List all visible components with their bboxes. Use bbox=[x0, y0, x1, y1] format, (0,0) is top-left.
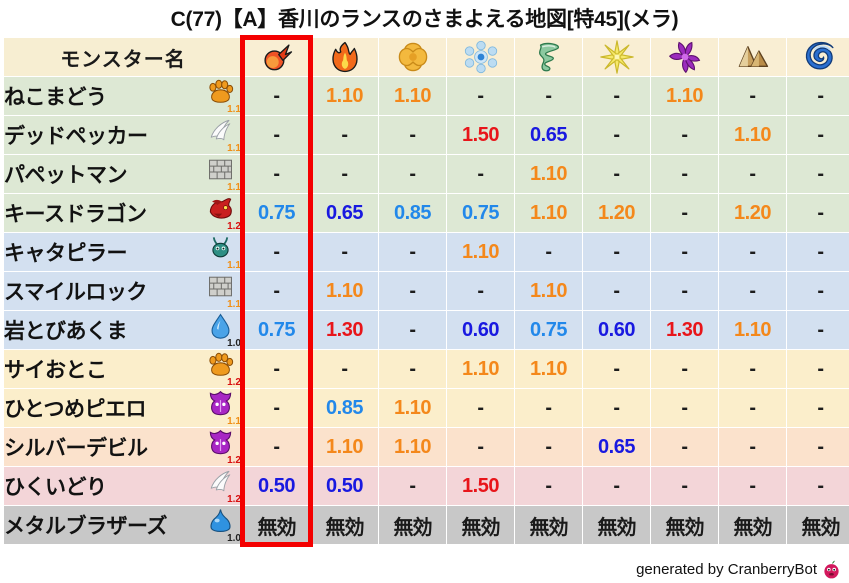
affinity-value: 無効 bbox=[462, 517, 500, 539]
affinity-cell: - bbox=[719, 233, 786, 271]
affinity-value: - bbox=[545, 436, 551, 458]
affinity-value: - bbox=[681, 280, 687, 302]
column-header-monster-name: モンスター名 bbox=[4, 38, 242, 76]
affinity-value: 1.10 bbox=[530, 163, 567, 185]
affinity-value: - bbox=[613, 397, 619, 419]
affinity-cell: 1.10 bbox=[515, 155, 582, 193]
monster-name-cell[interactable]: サイおとこ1.2 bbox=[4, 350, 242, 388]
affinity-cell: 0.60 bbox=[447, 311, 514, 349]
affinity-value: 無効 bbox=[802, 517, 840, 539]
affinity-value: - bbox=[613, 358, 619, 380]
affinity-value: 1.10 bbox=[326, 280, 363, 302]
wing-icon bbox=[207, 468, 234, 495]
affinity-value: - bbox=[273, 241, 279, 263]
affinity-cell: - bbox=[447, 389, 514, 427]
affinity-value: - bbox=[817, 397, 823, 419]
affinity-cell: 無効 bbox=[379, 506, 446, 544]
affinity-value: - bbox=[681, 397, 687, 419]
affinity-value: - bbox=[409, 358, 415, 380]
affinity-value: 1.10 bbox=[326, 85, 363, 107]
affinity-cell: - bbox=[515, 428, 582, 466]
affinity-value: 1.10 bbox=[734, 319, 771, 341]
column-header-mountain[interactable] bbox=[719, 38, 786, 76]
affinity-cell: 無効 bbox=[719, 506, 786, 544]
monster-version-label: 1.1 bbox=[227, 261, 241, 271]
wave-icon bbox=[804, 40, 838, 74]
affinity-cell: - bbox=[719, 389, 786, 427]
affinity-cell: - bbox=[787, 272, 849, 310]
affinity-value: - bbox=[409, 475, 415, 497]
affinity-cell: - bbox=[583, 116, 650, 154]
monster-name-cell[interactable]: パペットマン1.1 bbox=[4, 155, 242, 193]
affinity-cell: - bbox=[311, 116, 378, 154]
affinity-cell: 1.50 bbox=[447, 116, 514, 154]
affinity-cell: - bbox=[787, 116, 849, 154]
affinity-cell: 無効 bbox=[515, 506, 582, 544]
affinity-cell: - bbox=[515, 467, 582, 505]
affinity-value: - bbox=[273, 358, 279, 380]
cranberry-icon bbox=[822, 560, 841, 579]
affinity-cell: 0.50 bbox=[243, 467, 310, 505]
affinity-table-container: モンスター名 ねこまどう1.1-1.101.10---1.10--デッドペッカー… bbox=[0, 37, 849, 545]
affinity-cell: - bbox=[379, 233, 446, 271]
affinity-cell: 0.75 bbox=[243, 194, 310, 232]
column-header-flame[interactable] bbox=[311, 38, 378, 76]
affinity-cell: - bbox=[447, 155, 514, 193]
paw-icon bbox=[207, 351, 234, 378]
monster-name-cell[interactable]: ひとつめピエロ1.1 bbox=[4, 389, 242, 427]
affinity-cell: - bbox=[651, 272, 718, 310]
affinity-value: - bbox=[409, 241, 415, 263]
affinity-cell: 1.10 bbox=[311, 272, 378, 310]
affinity-cell: - bbox=[243, 428, 310, 466]
affinity-value: - bbox=[613, 475, 619, 497]
affinity-value: 1.10 bbox=[394, 397, 431, 419]
affinity-value: 0.75 bbox=[258, 319, 295, 341]
affinity-cell: 無効 bbox=[311, 506, 378, 544]
affinity-cell: - bbox=[787, 233, 849, 271]
affinity-value: - bbox=[749, 241, 755, 263]
affinity-cell: 1.30 bbox=[311, 311, 378, 349]
affinity-value: - bbox=[273, 436, 279, 458]
affinity-cell: 1.10 bbox=[379, 389, 446, 427]
affinity-value: 無効 bbox=[258, 517, 296, 539]
waterdrop-icon bbox=[207, 312, 234, 339]
affinity-value: - bbox=[477, 397, 483, 419]
affinity-value: - bbox=[613, 163, 619, 185]
monster-version-label: 1.1 bbox=[227, 417, 241, 427]
affinity-value: - bbox=[341, 241, 347, 263]
affinity-cell: - bbox=[379, 272, 446, 310]
affinity-cell: - bbox=[447, 272, 514, 310]
affinity-cell: 無効 bbox=[243, 506, 310, 544]
monster-version-label: 1.1 bbox=[227, 300, 241, 310]
affinity-value: 無効 bbox=[394, 517, 432, 539]
monster-version-label: 1.2 bbox=[227, 222, 241, 232]
affinity-cell: - bbox=[243, 116, 310, 154]
brick-icon bbox=[207, 273, 234, 300]
monster-name-cell[interactable]: スマイルロック1.1 bbox=[4, 272, 242, 310]
affinity-value: - bbox=[477, 85, 483, 107]
affinity-cell: - bbox=[583, 272, 650, 310]
affinity-cell: - bbox=[583, 467, 650, 505]
monster-version-label: 1.2 bbox=[227, 378, 241, 388]
affinity-value: - bbox=[817, 358, 823, 380]
affinity-value: - bbox=[545, 397, 551, 419]
affinity-cell: 1.30 bbox=[651, 311, 718, 349]
affinity-cell: 1.50 bbox=[447, 467, 514, 505]
monster-name-label: 岩とびあくま bbox=[4, 315, 127, 345]
star-icon bbox=[600, 40, 634, 74]
affinity-value: 0.65 bbox=[598, 436, 635, 458]
affinity-cell: - bbox=[787, 350, 849, 388]
affinity-value: 0.60 bbox=[462, 319, 499, 341]
affinity-value: - bbox=[341, 124, 347, 146]
affinity-value: - bbox=[749, 475, 755, 497]
affinity-cell: - bbox=[515, 389, 582, 427]
table-row: デッドペッカー1.1---1.500.65--1.10- bbox=[4, 116, 849, 154]
affinity-value: 0.65 bbox=[530, 124, 567, 146]
affinity-cell: 1.10 bbox=[515, 194, 582, 232]
affinity-cell: 0.75 bbox=[447, 194, 514, 232]
monster-version-label: 1.0 bbox=[227, 534, 241, 544]
affinity-value: - bbox=[817, 202, 823, 224]
affinity-cell: - bbox=[243, 272, 310, 310]
affinity-value: 0.60 bbox=[598, 319, 635, 341]
column-header-snowflake[interactable] bbox=[447, 38, 514, 76]
monster-name-label: キャタピラー bbox=[4, 237, 127, 267]
affinity-value: 1.30 bbox=[326, 319, 363, 341]
affinity-cell: - bbox=[447, 428, 514, 466]
affinity-cell: - bbox=[719, 272, 786, 310]
affinity-cell: - bbox=[583, 155, 650, 193]
affinity-value: 0.85 bbox=[394, 202, 431, 224]
affinity-value: 0.85 bbox=[326, 397, 363, 419]
table-row: パペットマン1.1----1.10---- bbox=[4, 155, 849, 193]
monster-name-label: スマイルロック bbox=[4, 276, 147, 306]
monster-name-cell[interactable]: メタルブラザーズ1.0 bbox=[4, 506, 242, 544]
affinity-cell: - bbox=[651, 194, 718, 232]
flame-icon bbox=[328, 40, 362, 74]
affinity-value: - bbox=[749, 397, 755, 419]
affinity-value: - bbox=[409, 319, 415, 341]
affinity-cell: - bbox=[719, 350, 786, 388]
affinity-cell: - bbox=[787, 311, 849, 349]
paw-icon bbox=[207, 78, 234, 105]
affinity-cell: - bbox=[311, 155, 378, 193]
affinity-cell: - bbox=[651, 428, 718, 466]
affinity-cell: - bbox=[787, 389, 849, 427]
column-header-star[interactable] bbox=[583, 38, 650, 76]
affinity-value: - bbox=[613, 241, 619, 263]
affinity-value: 無効 bbox=[666, 517, 704, 539]
affinity-value: - bbox=[681, 436, 687, 458]
affinity-value: - bbox=[477, 280, 483, 302]
affinity-cell: - bbox=[447, 77, 514, 115]
affinity-cell: - bbox=[379, 155, 446, 193]
snowflake-icon bbox=[464, 40, 498, 74]
affinity-cell: - bbox=[583, 350, 650, 388]
affinity-cell: - bbox=[719, 155, 786, 193]
affinity-cell: 無効 bbox=[787, 506, 849, 544]
affinity-value: - bbox=[817, 475, 823, 497]
affinity-value: - bbox=[273, 85, 279, 107]
affinity-cell: - bbox=[583, 389, 650, 427]
affinity-cell: 1.10 bbox=[447, 233, 514, 271]
affinity-value: - bbox=[409, 124, 415, 146]
table-row: キースドラゴン1.20.750.650.850.751.101.20-1.20- bbox=[4, 194, 849, 232]
affinity-value: 1.10 bbox=[394, 436, 431, 458]
affinity-value: - bbox=[749, 280, 755, 302]
affinity-cell: 1.10 bbox=[379, 428, 446, 466]
monster-name-cell[interactable]: 岩とびあくま1.0 bbox=[4, 311, 242, 349]
affinity-value: - bbox=[749, 85, 755, 107]
affinity-value: 1.10 bbox=[462, 241, 499, 263]
affinity-cell: 0.65 bbox=[311, 194, 378, 232]
affinity-value: - bbox=[749, 163, 755, 185]
affinity-value: 0.75 bbox=[258, 202, 295, 224]
monster-name-label: ひくいどり bbox=[4, 471, 107, 501]
monster-name-label: キースドラゴン bbox=[4, 198, 146, 228]
affinity-value: 1.20 bbox=[734, 202, 771, 224]
affinity-cell: - bbox=[379, 350, 446, 388]
affinity-value: - bbox=[273, 163, 279, 185]
monster-name-cell[interactable]: ひくいどり1.2 bbox=[4, 467, 242, 505]
affinity-cell: - bbox=[243, 389, 310, 427]
table-row: ひくいどり1.20.500.50-1.50----- bbox=[4, 467, 849, 505]
affinity-cell: 0.50 bbox=[311, 467, 378, 505]
affinity-value: 1.10 bbox=[530, 358, 567, 380]
affinity-value: 1.10 bbox=[530, 202, 567, 224]
affinity-cell: - bbox=[787, 194, 849, 232]
affinity-cell: - bbox=[243, 233, 310, 271]
table-row: メタルブラザーズ1.0無効無効無効無効無効無効無効無効無効 bbox=[4, 506, 849, 544]
monster-name-cell[interactable]: シルバーデビル1.2 bbox=[4, 428, 242, 466]
affinity-value: - bbox=[817, 241, 823, 263]
affinity-cell: - bbox=[719, 467, 786, 505]
affinity-value: 1.10 bbox=[734, 124, 771, 146]
affinity-cell: - bbox=[379, 311, 446, 349]
column-header-tornado[interactable] bbox=[515, 38, 582, 76]
affinity-cell: 0.60 bbox=[583, 311, 650, 349]
affinity-value: 0.50 bbox=[326, 475, 363, 497]
column-header-wave[interactable] bbox=[787, 38, 849, 76]
affinity-value: 1.10 bbox=[462, 358, 499, 380]
affinity-value: 無効 bbox=[530, 517, 568, 539]
affinity-value: - bbox=[817, 319, 823, 341]
affinity-cell: 1.10 bbox=[719, 116, 786, 154]
monster-name-cell[interactable]: キャタピラー1.1 bbox=[4, 233, 242, 271]
affinity-cell: - bbox=[651, 467, 718, 505]
brick-icon bbox=[207, 156, 234, 183]
affinity-cell: 無効 bbox=[583, 506, 650, 544]
monster-name-cell[interactable]: ねこまどう1.1 bbox=[4, 77, 242, 115]
monster-name-label: サイおとこ bbox=[4, 354, 107, 384]
affinity-cell: - bbox=[379, 116, 446, 154]
affinity-value: - bbox=[749, 436, 755, 458]
affinity-value: - bbox=[681, 241, 687, 263]
table-row: 岩とびあくま1.00.751.30-0.600.750.601.301.10- bbox=[4, 311, 849, 349]
tornado-icon bbox=[532, 40, 566, 74]
monster-name-cell[interactable]: キースドラゴン1.2 bbox=[4, 194, 242, 232]
affinity-cell: 0.65 bbox=[583, 428, 650, 466]
affinity-value: - bbox=[613, 280, 619, 302]
monster-version-label: 1.1 bbox=[227, 105, 241, 115]
affinity-value: - bbox=[545, 475, 551, 497]
affinity-value: - bbox=[409, 280, 415, 302]
table-row: サイおとこ1.2---1.101.10---- bbox=[4, 350, 849, 388]
affinity-value: - bbox=[409, 163, 415, 185]
affinity-value: - bbox=[749, 358, 755, 380]
affinity-cell: - bbox=[311, 233, 378, 271]
dragon-icon bbox=[207, 195, 234, 222]
affinity-cell: - bbox=[583, 233, 650, 271]
affinity-value: - bbox=[273, 397, 279, 419]
affinity-value: - bbox=[613, 124, 619, 146]
monster-version-label: 1.0 bbox=[227, 339, 241, 349]
affinity-cell: 1.10 bbox=[515, 272, 582, 310]
affinity-cell: - bbox=[243, 350, 310, 388]
table-header-row: モンスター名 bbox=[4, 38, 849, 76]
affinity-cell: - bbox=[311, 350, 378, 388]
affinity-cell: - bbox=[515, 77, 582, 115]
table-row: シルバーデビル1.2-1.101.10--0.65--- bbox=[4, 428, 849, 466]
affinity-cell: 1.20 bbox=[719, 194, 786, 232]
monster-name-label: シルバーデビル bbox=[4, 432, 148, 462]
affinity-value: - bbox=[681, 475, 687, 497]
affinity-value: - bbox=[477, 436, 483, 458]
footer-credit: generated by CranberryBot bbox=[636, 560, 841, 579]
monster-version-label: 1.1 bbox=[227, 183, 241, 193]
affinity-cell: - bbox=[719, 77, 786, 115]
mountain-icon bbox=[736, 40, 770, 74]
affinity-value: 無効 bbox=[598, 517, 636, 539]
affinity-value: 1.30 bbox=[666, 319, 703, 341]
dark-shuriken-icon bbox=[668, 40, 702, 74]
monster-version-label: 1.2 bbox=[227, 495, 241, 505]
affinity-cell: - bbox=[651, 233, 718, 271]
affinity-value: - bbox=[817, 124, 823, 146]
affinity-cell: - bbox=[719, 428, 786, 466]
wing-icon bbox=[207, 117, 234, 144]
affinity-cell: - bbox=[787, 428, 849, 466]
affinity-cell: - bbox=[651, 350, 718, 388]
fireball-icon bbox=[260, 40, 294, 74]
affinity-cell: 1.10 bbox=[379, 77, 446, 115]
devil-icon bbox=[207, 429, 234, 456]
slime-icon bbox=[207, 507, 234, 534]
affinity-cell: 1.10 bbox=[311, 77, 378, 115]
monster-name-label: ひとつめピエロ bbox=[4, 393, 146, 423]
affinity-value: 無効 bbox=[734, 517, 772, 539]
monster-version-label: 1.2 bbox=[227, 456, 241, 466]
column-header-fireball[interactable] bbox=[243, 38, 310, 76]
affinity-cell: - bbox=[243, 155, 310, 193]
affinity-value: 0.65 bbox=[326, 202, 363, 224]
affinity-value: - bbox=[681, 358, 687, 380]
affinity-cell: - bbox=[243, 77, 310, 115]
affinity-value: - bbox=[817, 280, 823, 302]
affinity-value: - bbox=[273, 124, 279, 146]
table-row: ひとつめピエロ1.1-0.851.10------ bbox=[4, 389, 849, 427]
affinity-value: - bbox=[817, 163, 823, 185]
monster-version-label: 1.1 bbox=[227, 144, 241, 154]
affinity-value: - bbox=[341, 163, 347, 185]
column-header-explosion[interactable] bbox=[379, 38, 446, 76]
affinity-cell: 1.10 bbox=[447, 350, 514, 388]
monster-name-label: デッドペッカー bbox=[4, 120, 148, 150]
table-row: キャタピラー1.1---1.10----- bbox=[4, 233, 849, 271]
affinity-cell: - bbox=[379, 467, 446, 505]
affinity-value: - bbox=[273, 280, 279, 302]
affinity-value: - bbox=[545, 85, 551, 107]
affinity-cell: 1.10 bbox=[719, 311, 786, 349]
affinity-value: 0.75 bbox=[530, 319, 567, 341]
table-body: ねこまどう1.1-1.101.10---1.10--デッドペッカー1.1---1… bbox=[4, 77, 849, 544]
affinity-cell: - bbox=[515, 233, 582, 271]
monster-name-label: メタルブラザーズ bbox=[4, 510, 167, 540]
affinity-cell: - bbox=[787, 467, 849, 505]
devil-icon bbox=[207, 390, 234, 417]
affinity-cell: 0.75 bbox=[243, 311, 310, 349]
page-title: C(77)【A】香川のランスのさまよえる地図[特45](メラ) bbox=[0, 0, 849, 37]
affinity-value: - bbox=[817, 85, 823, 107]
monster-name-label: ねこまどう bbox=[4, 81, 107, 111]
affinity-cell: - bbox=[651, 389, 718, 427]
table-row: ねこまどう1.1-1.101.10---1.10-- bbox=[4, 77, 849, 115]
affinity-cell: 1.10 bbox=[651, 77, 718, 115]
affinity-cell: 0.85 bbox=[379, 194, 446, 232]
footer-text: generated by CranberryBot bbox=[636, 561, 817, 578]
affinity-value: 1.50 bbox=[462, 124, 499, 146]
affinity-value: 1.20 bbox=[598, 202, 635, 224]
affinity-cell: 0.65 bbox=[515, 116, 582, 154]
explosion-icon bbox=[396, 40, 430, 74]
monster-affinity-table: モンスター名 ねこまどう1.1-1.101.10---1.10--デッドペッカー… bbox=[3, 37, 849, 545]
bug-icon bbox=[207, 234, 234, 261]
affinity-cell: - bbox=[583, 77, 650, 115]
affinity-value: 0.75 bbox=[462, 202, 499, 224]
affinity-value: 1.50 bbox=[462, 475, 499, 497]
affinity-value: - bbox=[681, 124, 687, 146]
affinity-cell: - bbox=[651, 116, 718, 154]
monster-name-label: パペットマン bbox=[4, 159, 127, 189]
column-header-dark-shuriken[interactable] bbox=[651, 38, 718, 76]
affinity-value: - bbox=[817, 436, 823, 458]
table-row: スマイルロック1.1-1.10--1.10---- bbox=[4, 272, 849, 310]
affinity-cell: 1.20 bbox=[583, 194, 650, 232]
affinity-value: - bbox=[477, 163, 483, 185]
affinity-cell: - bbox=[787, 77, 849, 115]
affinity-value: 1.10 bbox=[326, 436, 363, 458]
affinity-cell: 1.10 bbox=[311, 428, 378, 466]
affinity-value: - bbox=[681, 202, 687, 224]
affinity-cell: 無効 bbox=[447, 506, 514, 544]
monster-name-cell[interactable]: デッドペッカー1.1 bbox=[4, 116, 242, 154]
affinity-value: - bbox=[681, 163, 687, 185]
affinity-cell: 0.75 bbox=[515, 311, 582, 349]
affinity-value: 1.10 bbox=[394, 85, 431, 107]
affinity-cell: 1.10 bbox=[515, 350, 582, 388]
affinity-cell: - bbox=[651, 155, 718, 193]
affinity-value: 1.10 bbox=[530, 280, 567, 302]
affinity-cell: - bbox=[787, 155, 849, 193]
affinity-value: - bbox=[341, 358, 347, 380]
affinity-value: 1.10 bbox=[666, 85, 703, 107]
affinity-value: - bbox=[613, 85, 619, 107]
affinity-cell: 無効 bbox=[651, 506, 718, 544]
affinity-value: 無効 bbox=[326, 517, 364, 539]
